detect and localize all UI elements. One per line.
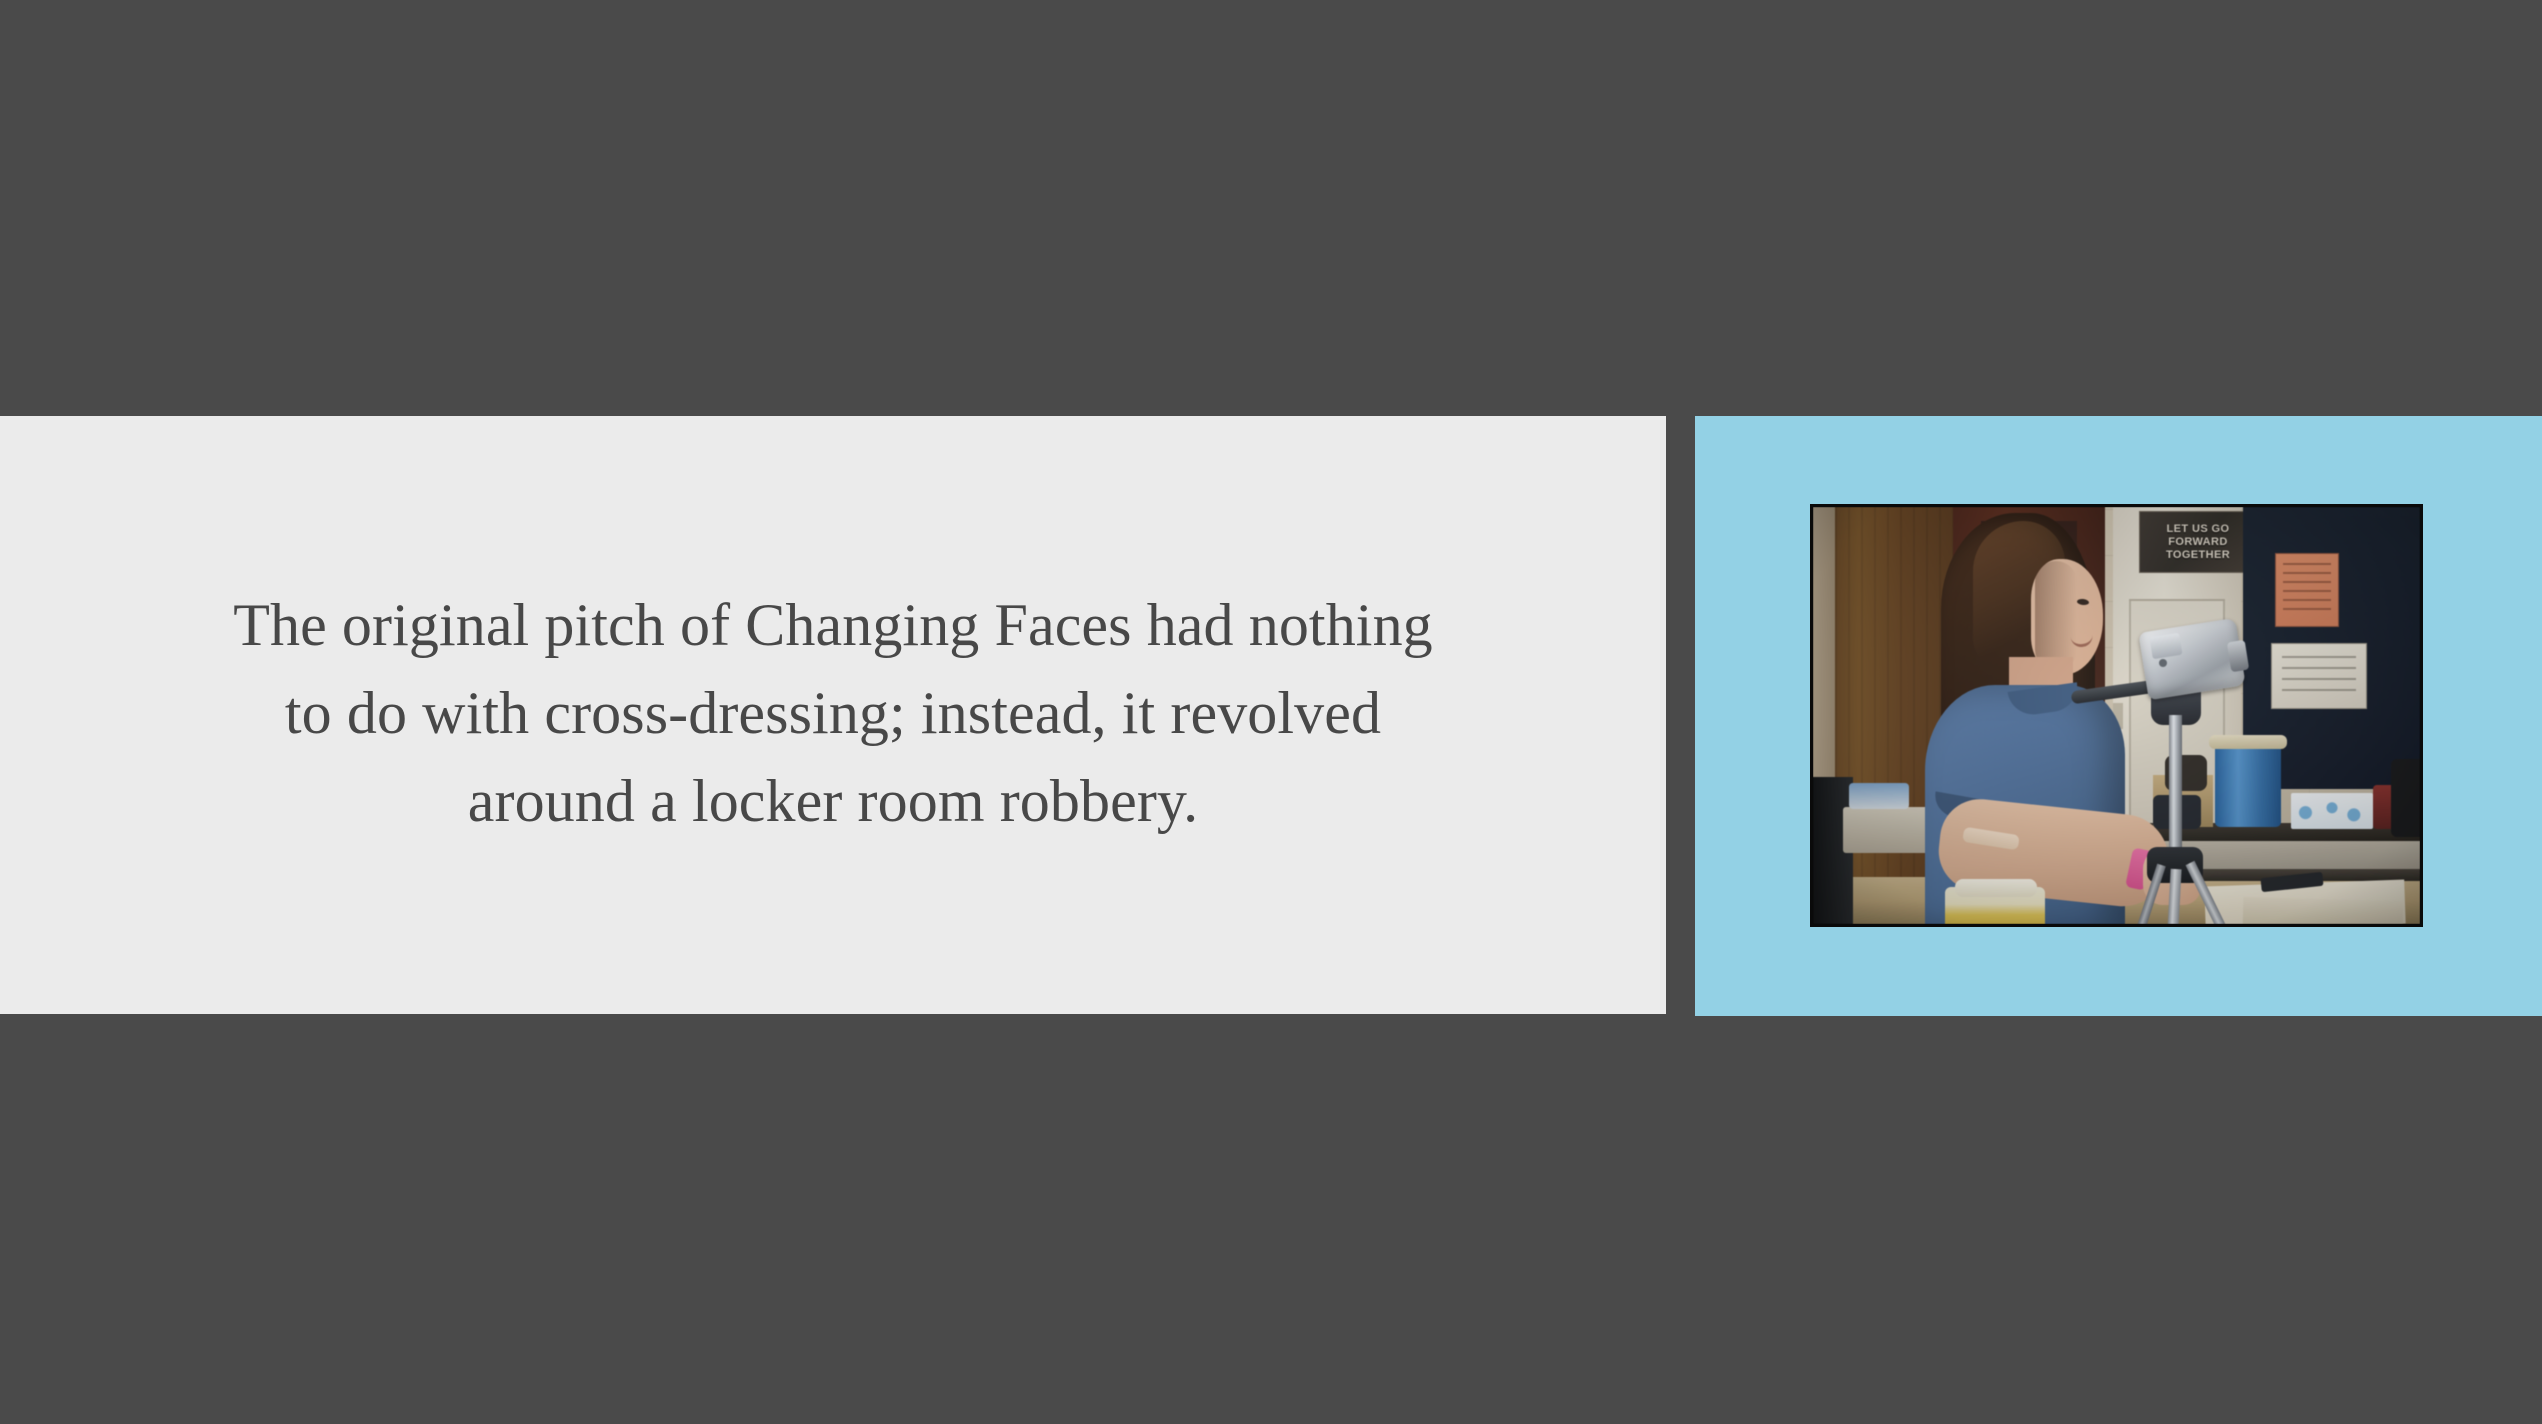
desk-papers-secondary (2243, 897, 2404, 924)
caption-line-1: The original pitch of Changing Faces had… (33, 581, 1633, 669)
tissue-box (2291, 793, 2373, 829)
bucket-lid (2209, 735, 2287, 749)
slide-caption: The original pitch of Changing Faces had… (33, 581, 1633, 849)
white-notice (2271, 643, 2367, 709)
caption-panel: The original pitch of Changing Faces had… (0, 416, 1666, 1014)
slide-content-band: The original pitch of Changing Faces had… (0, 416, 2542, 1016)
go-forward-together-poster: LET US GO FORWARD TOGETHER (2139, 511, 2257, 573)
camcorder-screen (2149, 633, 2182, 659)
blue-bucket (2215, 743, 2281, 827)
poster-text: LET US GO FORWARD TOGETHER (2140, 523, 2256, 562)
yellow-tub-lid (1955, 879, 2037, 897)
orange-flyer (2275, 553, 2339, 627)
caption-line-3: around a locker room robbery. (33, 757, 1633, 845)
photo-panel: LET US GO FORWARD TOGETHER (1695, 416, 2542, 1016)
caption-line-2: to do with cross-dressing; instead, it r… (33, 669, 1633, 757)
classroom-camcorder-photo: LET US GO FORWARD TOGETHER (1813, 507, 2420, 924)
subject-face-shadow (2035, 561, 2077, 671)
tripod-center-column (2169, 715, 2182, 855)
desk-clutter-blue (1849, 783, 1909, 809)
photo-frame: LET US GO FORWARD TOGETHER (1810, 504, 2423, 927)
camcorder-button (2159, 659, 2167, 667)
dark-garment (2391, 759, 2420, 837)
